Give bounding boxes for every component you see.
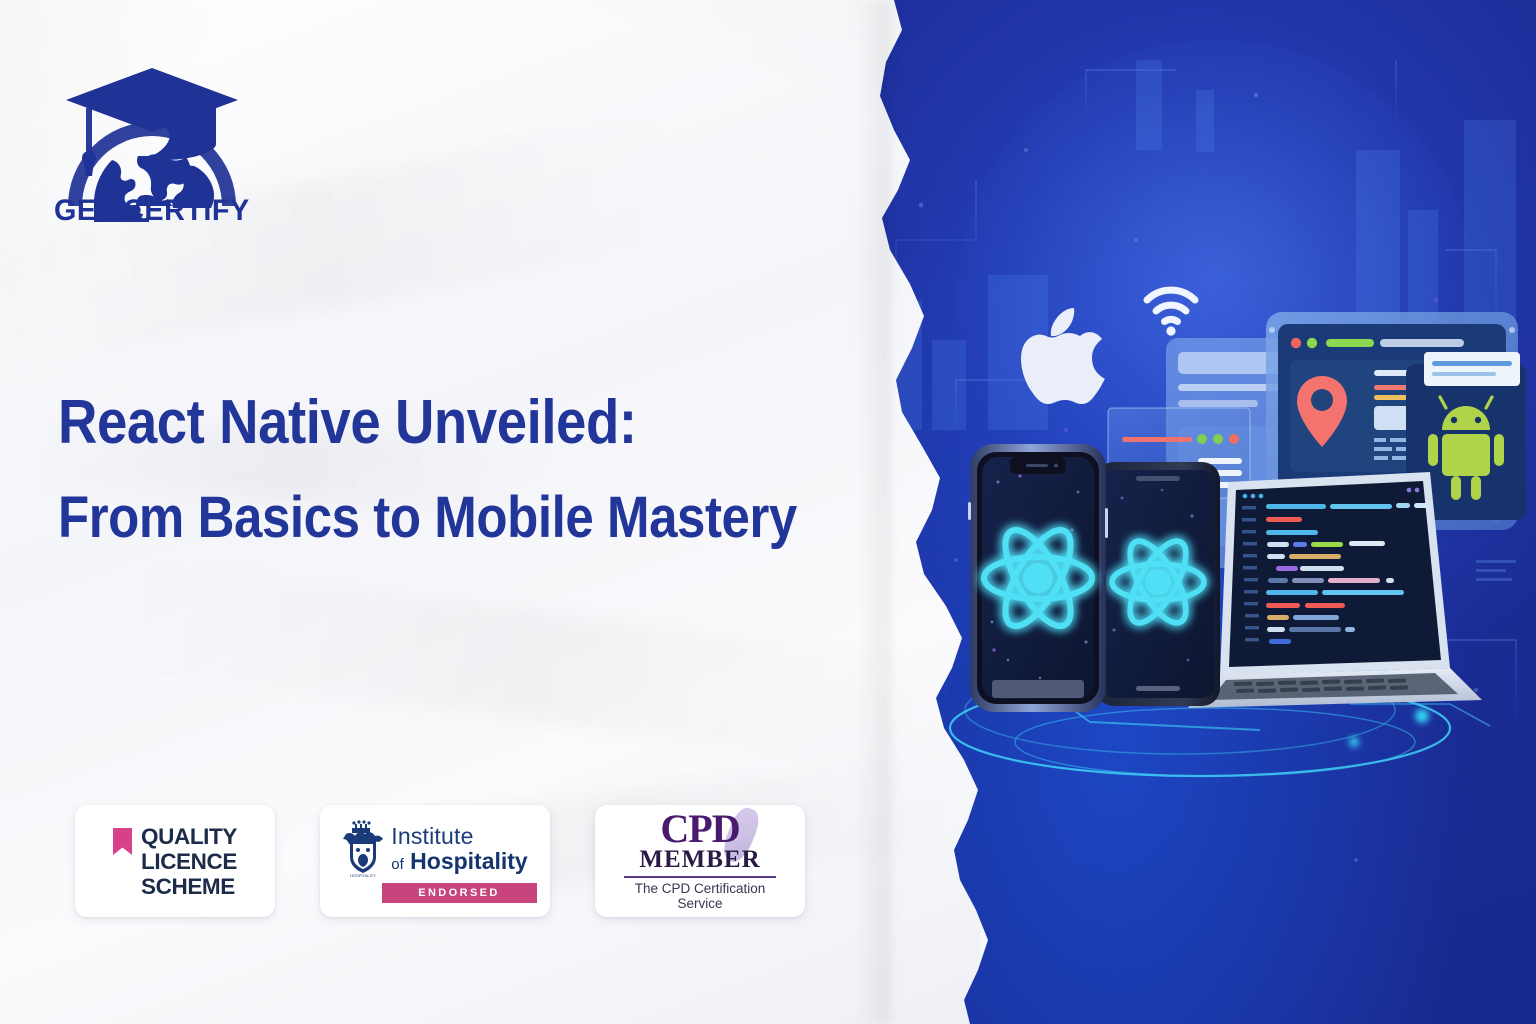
graduation-cap-globe-icon: GET CERTIFY bbox=[52, 48, 252, 223]
cpd-caption-2: Service bbox=[677, 896, 722, 911]
paper-crease bbox=[116, 560, 943, 769]
logo-wordmark: GET CERTIFY bbox=[54, 193, 250, 223]
badge-cpd-member[interactable]: CPD MEMBER The CPD Certification Service bbox=[595, 805, 805, 917]
heraldic-crest-icon: HOSPITALITY bbox=[342, 820, 384, 878]
badge-institute-of-hospitality[interactable]: HOSPITALITY Institute of Hospitality END… bbox=[320, 805, 550, 917]
cpd-divider bbox=[624, 876, 776, 878]
cpd-title: CPD bbox=[660, 811, 739, 847]
ioh-line-2-small: of bbox=[391, 856, 404, 873]
ioh-line-2-bold: Hospitality bbox=[410, 848, 528, 874]
headline-line-1: React Native Unveiled: bbox=[58, 386, 727, 460]
ioh-line-1: Institute bbox=[391, 825, 527, 848]
qls-line-3: SCHEME bbox=[141, 874, 237, 899]
bookmark-icon bbox=[113, 828, 132, 855]
react-native-devices-illustration bbox=[930, 230, 1530, 790]
phone-back-react-logo bbox=[1096, 462, 1220, 706]
phone-front-react-logo bbox=[968, 444, 1108, 712]
accreditation-badges: QUALITY LICENCE SCHEME bbox=[75, 805, 805, 917]
cpd-caption-1: The CPD Certification bbox=[635, 881, 766, 896]
badge-quality-licence-scheme[interactable]: QUALITY LICENCE SCHEME bbox=[75, 805, 275, 917]
wifi-icon bbox=[1147, 290, 1195, 336]
ioh-endorsed-ribbon: ENDORSED bbox=[382, 883, 537, 903]
qls-line-1: QUALITY bbox=[141, 824, 237, 849]
headline-line-2: From Basics to Mobile Mastery bbox=[58, 482, 727, 554]
glow-node bbox=[1415, 709, 1429, 723]
cpd-subtitle: MEMBER bbox=[639, 847, 760, 873]
apple-logo-icon bbox=[1021, 308, 1105, 404]
poster-canvas: GET CERTIFY React Native Unveiled: From … bbox=[0, 0, 1536, 1024]
qls-line-2: LICENCE bbox=[141, 849, 237, 874]
page-title: React Native Unveiled: From Basics to Mo… bbox=[58, 386, 818, 554]
glow-node bbox=[1349, 737, 1359, 747]
brand-logo[interactable]: GET CERTIFY bbox=[52, 48, 252, 223]
svg-text:HOSPITALITY: HOSPITALITY bbox=[350, 873, 376, 878]
